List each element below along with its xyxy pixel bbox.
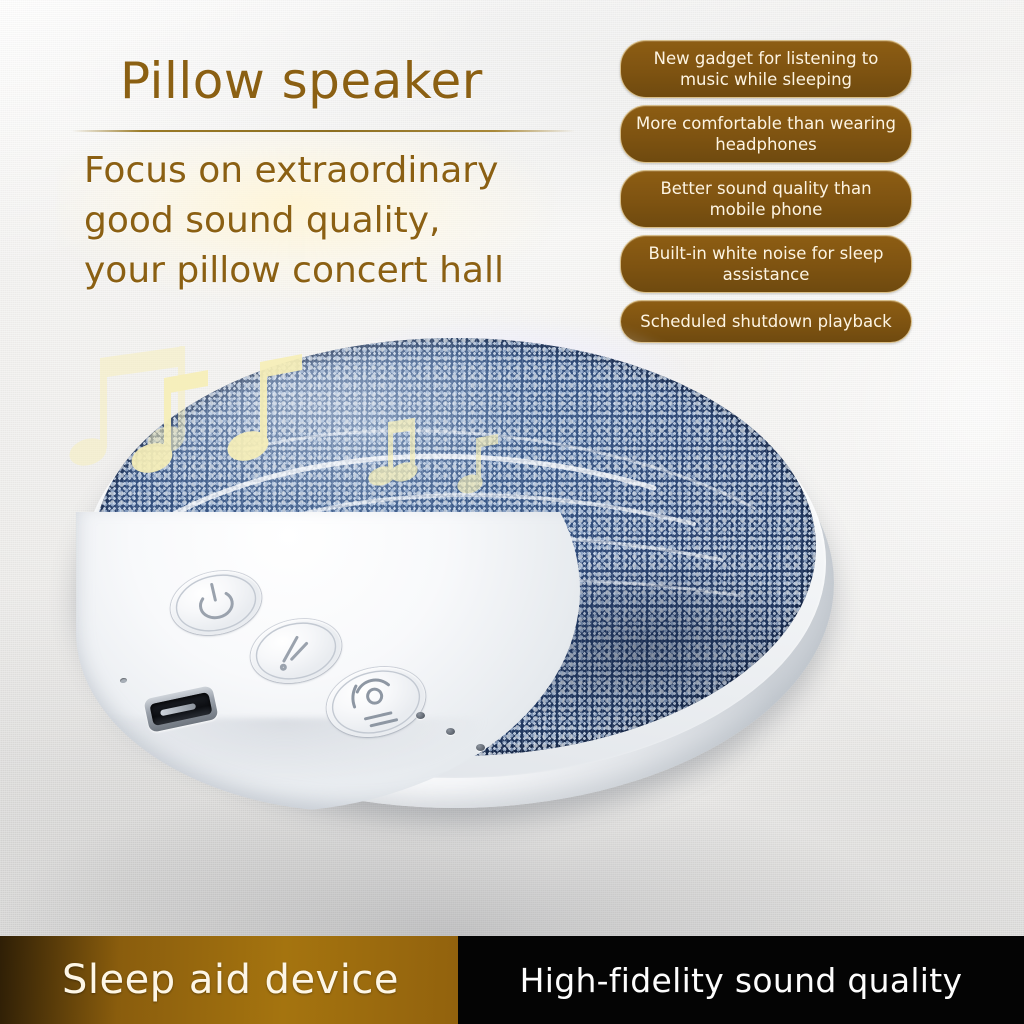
- product-image: [58, 300, 848, 830]
- banner-left-text: Sleep aid device: [62, 957, 399, 1003]
- banner-left: Sleep aid device: [0, 936, 458, 1024]
- led-indicator: [416, 712, 425, 719]
- feature-badge: More comfortable than wearing headphones: [620, 105, 912, 163]
- page-title: Pillow speaker: [120, 52, 483, 110]
- banner-right: High-fidelity sound quality: [458, 936, 1024, 1024]
- led-indicator: [476, 744, 485, 751]
- subtitle-line-3: your pillow concert hall: [84, 246, 584, 296]
- feature-badge: Built-in white noise for sleep assistanc…: [620, 235, 912, 293]
- product-poster: Pillow speaker Focus on extraordinary go…: [0, 0, 1024, 1024]
- feature-badge: Better sound quality than mobile phone: [620, 170, 912, 228]
- title-divider: [72, 130, 575, 132]
- led-indicator: [446, 728, 455, 735]
- feature-badge: New gadget for listening to music while …: [620, 40, 912, 98]
- usb-pin: [160, 703, 196, 716]
- product-shell-edge-shadow: [78, 718, 548, 810]
- subtitle-line-1: Focus on extraordinary: [84, 146, 584, 196]
- subtitle-line-2: good sound quality,: [84, 196, 584, 246]
- banner-right-text: High-fidelity sound quality: [520, 961, 963, 1000]
- bottom-banner: Sleep aid device High-fidelity sound qua…: [0, 936, 1024, 1024]
- subtitle-block: Focus on extraordinary good sound qualit…: [84, 146, 584, 296]
